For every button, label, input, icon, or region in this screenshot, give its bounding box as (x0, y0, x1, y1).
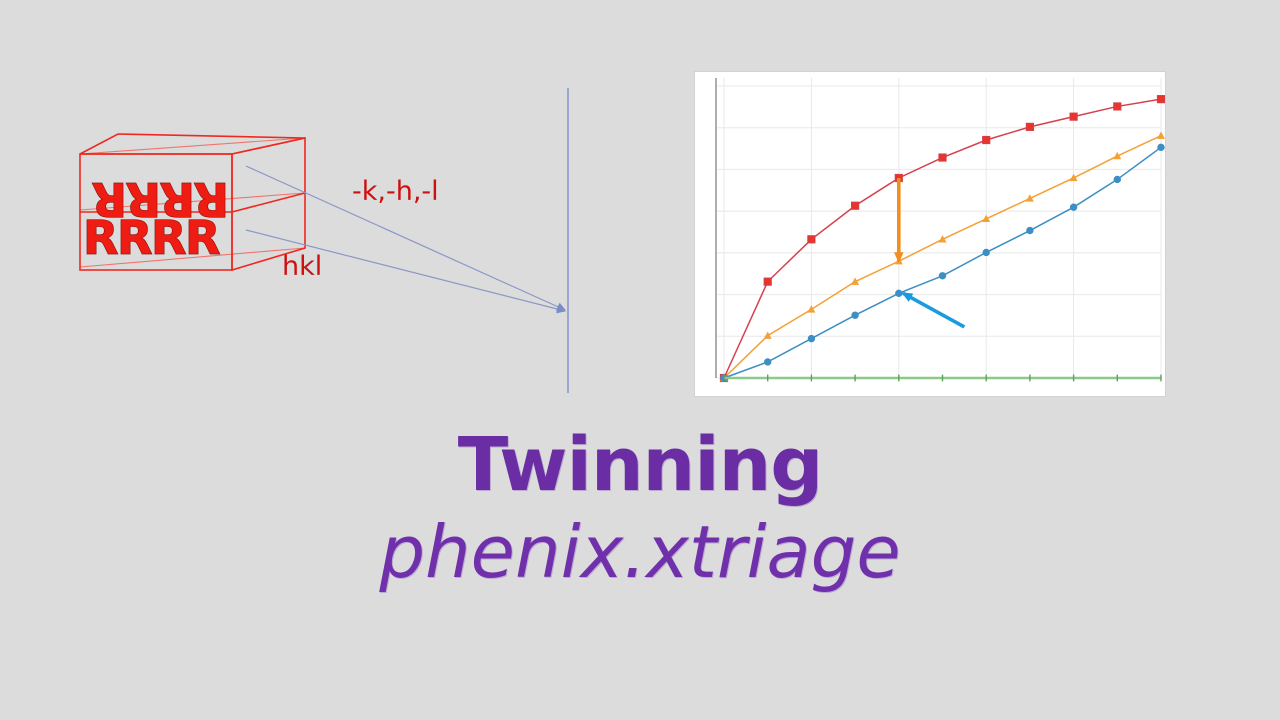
twin-domain-bottom-letters: R R R R (83, 211, 220, 265)
page-title: Twinning (0, 428, 1280, 503)
top-domain-label: -k,-h,-l (352, 176, 439, 207)
crystal-diagram: R R R R R R R R -k,-h,-l hkl (60, 120, 580, 410)
crystal-letter: R (83, 211, 118, 265)
crystal-letter: R (117, 211, 152, 265)
bottom-domain-label: hkl (282, 251, 322, 282)
detector-plane-line (567, 88, 569, 393)
crystal-letter: R (151, 211, 186, 265)
cumulative-intensity-chart (694, 71, 1166, 397)
title-block: Twinning phenix.xtriage (0, 428, 1280, 597)
crystal-letter: R (185, 211, 220, 265)
page-subtitle: phenix.xtriage (0, 507, 1280, 597)
